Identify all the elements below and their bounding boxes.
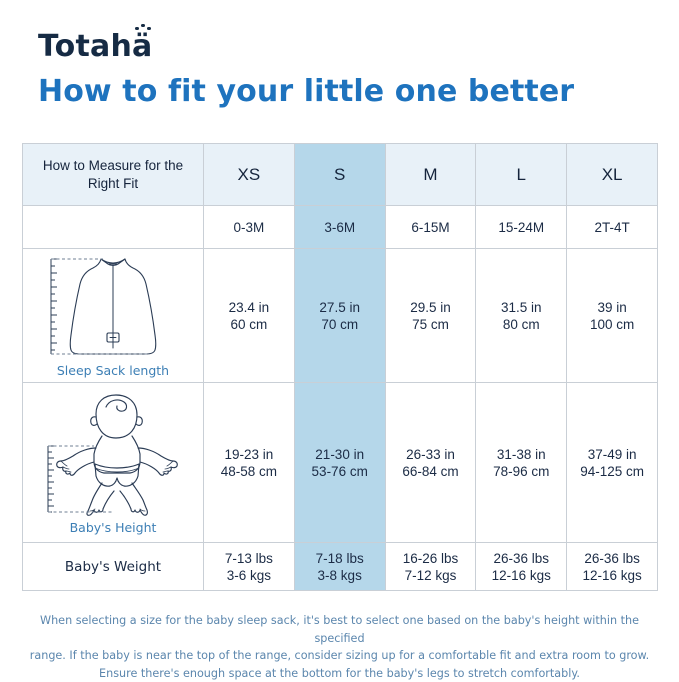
weight-m-lbs: 16-26 lbs xyxy=(386,550,476,567)
measure-column-header: How to Measure for the Right Fit xyxy=(23,144,204,206)
footnote-line-3: Ensure there's enough space at the botto… xyxy=(22,665,657,682)
weight-s-lbs: 7-18 lbs xyxy=(295,550,385,567)
length-s: 27.5 in 70 cm xyxy=(294,249,385,383)
weight-xl-kgs: 12-16 kgs xyxy=(567,567,657,584)
length-s-cm: 70 cm xyxy=(295,316,385,333)
height-xl: 37-49 in 94-125 cm xyxy=(567,383,658,543)
length-m: 29.5 in 75 cm xyxy=(385,249,476,383)
weight-s-kgs: 3-8 kgs xyxy=(295,567,385,584)
table-header-row: How to Measure for the Right Fit XS S M … xyxy=(23,144,658,206)
height-m: 26-33 in 66-84 cm xyxy=(385,383,476,543)
weight-xl-lbs: 26-36 lbs xyxy=(567,550,657,567)
table-row: Baby's Weight 7-13 lbs 3-6 kgs 7-18 lbs … xyxy=(23,543,658,591)
table-row: Baby's Height 19-23 in 48-58 cm 21-30 in… xyxy=(23,383,658,543)
weight-l-lbs: 26-36 lbs xyxy=(476,550,566,567)
length-m-cm: 75 cm xyxy=(386,316,476,333)
weight-xs: 7-13 lbs 3-6 kgs xyxy=(204,543,295,591)
baby-height-caption: Baby's Height xyxy=(23,520,203,535)
length-l-cm: 80 cm xyxy=(476,316,566,333)
weight-m-kgs: 7-12 kgs xyxy=(386,567,476,584)
sleep-sack-caption: Sleep Sack length xyxy=(23,363,203,378)
table-row: Sleep Sack length 23.4 in 60 cm 27.5 in … xyxy=(23,249,658,383)
sleep-sack-measure-cell: Sleep Sack length xyxy=(23,249,204,383)
footnote-line-1: When selecting a size for the baby sleep… xyxy=(22,612,657,647)
size-header-xs[interactable]: XS xyxy=(204,144,295,206)
age-xs: 0-3M xyxy=(204,206,295,249)
weight-m: 16-26 lbs 7-12 kgs xyxy=(385,543,476,591)
height-l: 31-38 in 78-96 cm xyxy=(476,383,567,543)
baby-weight-label: Baby's Weight xyxy=(23,543,204,591)
age-s: 3-6M xyxy=(294,206,385,249)
brand-logo: Totahä xyxy=(38,26,152,68)
footnote-line-2: range. If the baby is near the top of th… xyxy=(22,647,657,665)
sizing-footnote: When selecting a size for the baby sleep… xyxy=(22,612,657,682)
baby-height-measure-cell: Baby's Height xyxy=(23,383,204,543)
height-xl-in: 37-49 in xyxy=(567,446,657,463)
age-m: 6-15M xyxy=(385,206,476,249)
length-m-in: 29.5 in xyxy=(386,299,476,316)
size-chart-table: How to Measure for the Right Fit XS S M … xyxy=(22,143,658,591)
height-xs-cm: 48-58 cm xyxy=(204,463,294,480)
weight-xs-lbs: 7-13 lbs xyxy=(204,550,294,567)
length-s-in: 27.5 in xyxy=(295,299,385,316)
height-m-in: 26-33 in xyxy=(386,446,476,463)
height-xl-cm: 94-125 cm xyxy=(567,463,657,480)
baby-icon xyxy=(32,390,194,518)
weight-l: 26-36 lbs 12-16 kgs xyxy=(476,543,567,591)
length-xl-cm: 100 cm xyxy=(567,316,657,333)
length-xl: 39 in 100 cm xyxy=(567,249,658,383)
age-row-label xyxy=(23,206,204,249)
weight-s: 7-18 lbs 3-8 kgs xyxy=(294,543,385,591)
size-header-s[interactable]: S xyxy=(294,144,385,206)
length-xs: 23.4 in 60 cm xyxy=(204,249,295,383)
weight-xl: 26-36 lbs 12-16 kgs xyxy=(567,543,658,591)
length-xs-cm: 60 cm xyxy=(204,316,294,333)
weight-xs-kgs: 3-6 kgs xyxy=(204,567,294,584)
sleep-sack-icon xyxy=(37,253,189,361)
page-title: How to fit your little one better xyxy=(38,74,574,109)
length-xl-in: 39 in xyxy=(567,299,657,316)
height-s-in: 21-30 in xyxy=(295,446,385,463)
size-header-xl[interactable]: XL xyxy=(567,144,658,206)
height-s-cm: 53-76 cm xyxy=(295,463,385,480)
height-l-cm: 78-96 cm xyxy=(476,463,566,480)
length-l: 31.5 in 80 cm xyxy=(476,249,567,383)
age-xl: 2T-4T xyxy=(567,206,658,249)
brand-logo-text: Totahä xyxy=(38,32,152,62)
height-s: 21-30 in 53-76 cm xyxy=(294,383,385,543)
size-header-l[interactable]: L xyxy=(476,144,567,206)
length-xs-in: 23.4 in xyxy=(204,299,294,316)
height-m-cm: 66-84 cm xyxy=(386,463,476,480)
size-header-m[interactable]: M xyxy=(385,144,476,206)
age-l: 15-24M xyxy=(476,206,567,249)
weight-l-kgs: 12-16 kgs xyxy=(476,567,566,584)
length-l-in: 31.5 in xyxy=(476,299,566,316)
height-xs: 19-23 in 48-58 cm xyxy=(204,383,295,543)
table-row: 0-3M 3-6M 6-15M 15-24M 2T-4T xyxy=(23,206,658,249)
height-l-in: 31-38 in xyxy=(476,446,566,463)
height-xs-in: 19-23 in xyxy=(204,446,294,463)
